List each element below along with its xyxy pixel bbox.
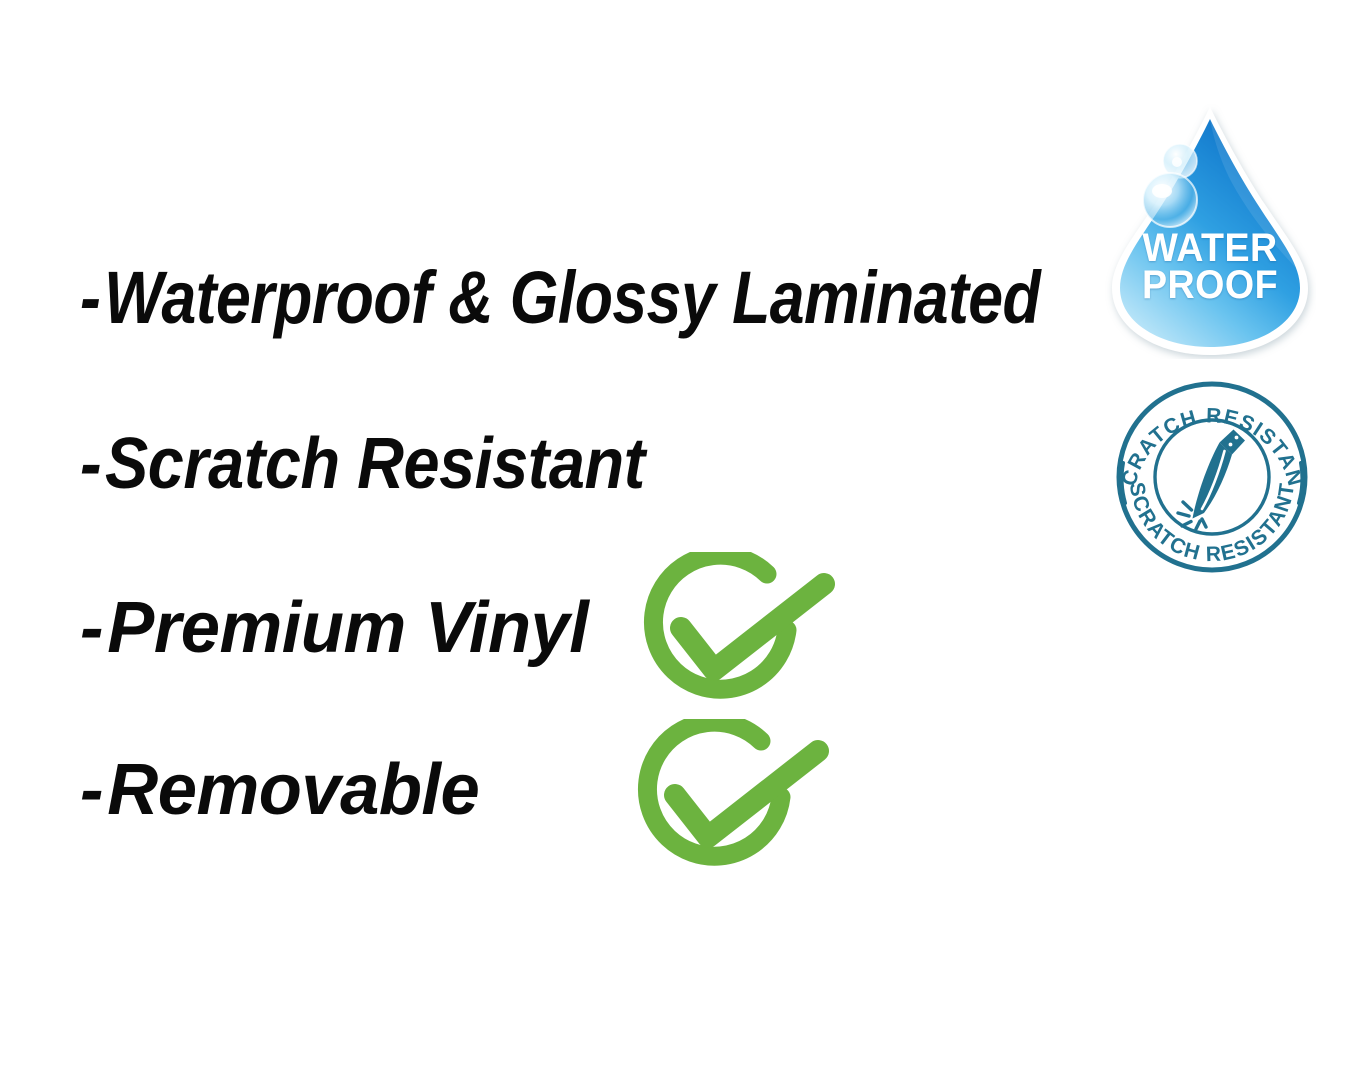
bubble-large-glint [1152,184,1172,198]
feature-label: Removable [107,750,479,830]
scratch-resistant-badge: SCRATCH RESISTANT SCRATCH RESISTANT [1112,379,1312,575]
bullet-dash: - [80,428,101,500]
feature-label: Premium Vinyl [107,588,588,668]
knife-rivet [1229,443,1233,447]
feature-label: Waterproof & Glossy Laminated [104,256,1040,339]
circled-check-icon [628,719,838,884]
knife-stamp-icon: SCRATCH RESISTANT SCRATCH RESISTANT [1112,379,1312,575]
feature-label: Scratch Resistant [105,424,645,504]
check-mark-removable [628,719,838,884]
bubble-small-glint [1172,157,1182,167]
knife-rivet [1235,436,1239,440]
bubble-large-icon [1143,173,1197,227]
check-tick [675,751,818,837]
bullet-dash: - [80,592,103,664]
scratch-spark [1178,513,1189,516]
bullet-dash: - [80,754,103,826]
scratch-spark [1202,519,1206,527]
feature-line-waterproof-glossy-laminated: -Waterproof & Glossy Laminated [80,261,1040,335]
check-mark-premium-vinyl [634,552,844,717]
product-feature-graphic: -Waterproof & Glossy Laminated -Scratch … [0,0,1359,1080]
circled-check-icon [634,552,844,717]
bullet-dash: - [80,261,100,335]
scratch-spark [1183,502,1192,510]
waterproof-badge: WATER PROOF [1104,103,1316,359]
check-tick [681,584,824,670]
scratch-spark [1182,522,1191,527]
knife-icon [1178,430,1245,530]
water-drop-icon [1104,103,1316,359]
knife-blade [1193,443,1233,519]
scratch-spark [1196,521,1200,529]
feature-line-premium-vinyl: -Premium Vinyl [80,592,588,664]
feature-line-removable: -Removable [80,754,479,826]
feature-line-scratch-resistant: -Scratch Resistant [80,428,645,500]
